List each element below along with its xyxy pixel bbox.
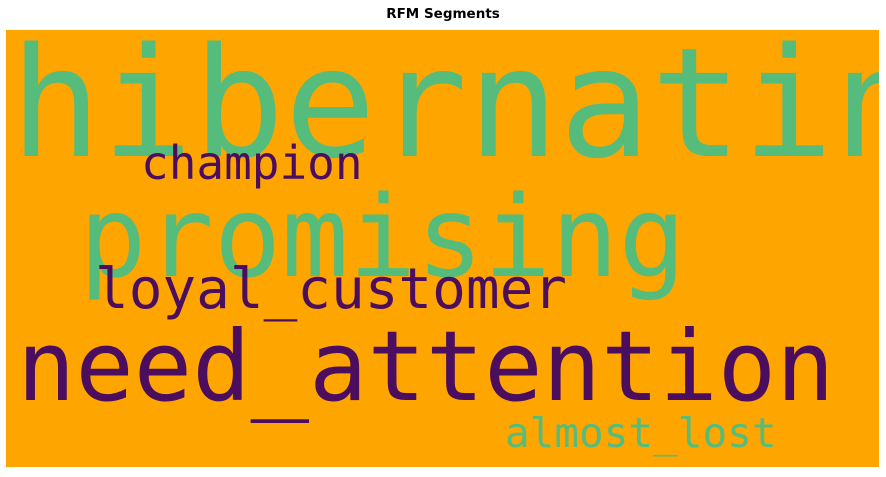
- wordcloud-word: need_attention: [17, 318, 835, 415]
- wordcloud-canvas: hibernatingchampionpromisingloyal_custom…: [6, 30, 879, 467]
- wordcloud-figure: RFM Segments hibernatingchampionpromisin…: [0, 0, 886, 477]
- page-title: RFM Segments: [0, 6, 886, 22]
- wordcloud-word: almost_lost: [505, 413, 777, 454]
